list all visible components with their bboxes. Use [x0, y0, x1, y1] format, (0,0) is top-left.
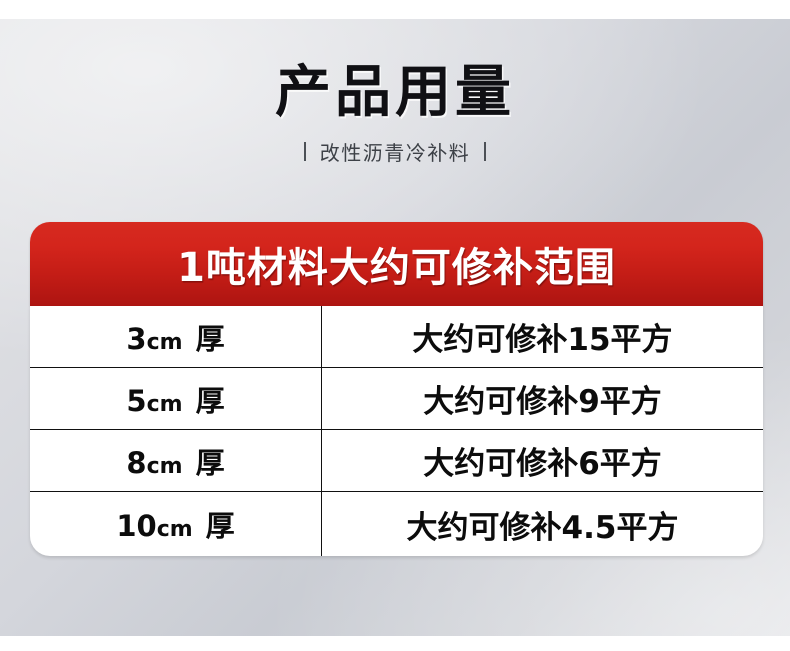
coverage-cell: 大约可修补4.5平方	[322, 492, 763, 556]
thickness-cell: 10cm厚	[30, 492, 322, 556]
thickness-value: 3	[126, 322, 146, 356]
thickness-text: 3cm厚	[126, 316, 224, 358]
banner-title: 1吨材料大约可修补范围	[177, 235, 616, 293]
subtitle-right-bar-icon	[484, 142, 486, 161]
coverage-text: 大约可修补15平方	[412, 314, 672, 359]
thickness-value: 10	[116, 509, 156, 543]
thickness-text: 5cm厚	[126, 378, 224, 420]
thickness-value: 8	[126, 446, 146, 480]
coverage-table: 3cm厚 大约可修补15平方 5cm厚 大约可修补9平方 8cm厚 大约可修补6…	[30, 306, 763, 556]
thickness-unit: cm	[147, 454, 183, 479]
coverage-cell: 大约可修补15平方	[322, 306, 763, 367]
thickness-text: 10cm厚	[116, 503, 234, 545]
thickness-cell: 5cm厚	[30, 368, 322, 429]
thickness-unit: cm	[147, 392, 183, 417]
subtitle-left-bar-icon	[304, 142, 306, 161]
product-usage-infographic: 产品用量 改性沥青冷补料 1吨材料大约可修补范围 3cm厚 大约可修补15平方 …	[0, 0, 790, 651]
red-banner: 1吨材料大约可修补范围	[30, 222, 763, 306]
header-block: 产品用量 改性沥青冷补料	[0, 62, 790, 166]
thickness-word: 厚	[206, 509, 235, 543]
subtitle-row: 改性沥青冷补料	[0, 137, 790, 166]
coverage-cell: 大约可修补6平方	[322, 430, 763, 491]
thickness-cell: 8cm厚	[30, 430, 322, 491]
thickness-cell: 3cm厚	[30, 306, 322, 367]
thickness-unit: cm	[157, 517, 193, 542]
table-row: 3cm厚 大约可修补15平方	[30, 306, 763, 368]
thickness-unit: cm	[147, 330, 183, 355]
coverage-text: 大约可修补6平方	[423, 438, 662, 483]
thickness-text: 8cm厚	[126, 440, 224, 482]
page-subtitle: 改性沥青冷补料	[320, 137, 471, 166]
thickness-word: 厚	[196, 322, 225, 356]
page-title: 产品用量	[0, 62, 790, 125]
thickness-word: 厚	[196, 384, 225, 418]
table-row: 10cm厚 大约可修补4.5平方	[30, 492, 763, 556]
coverage-text: 大约可修补4.5平方	[407, 502, 679, 547]
thickness-word: 厚	[196, 446, 225, 480]
table-row: 8cm厚 大约可修补6平方	[30, 430, 763, 492]
table-row: 5cm厚 大约可修补9平方	[30, 368, 763, 430]
coverage-text: 大约可修补9平方	[423, 376, 662, 421]
thickness-value: 5	[126, 384, 146, 418]
coverage-cell: 大约可修补9平方	[322, 368, 763, 429]
